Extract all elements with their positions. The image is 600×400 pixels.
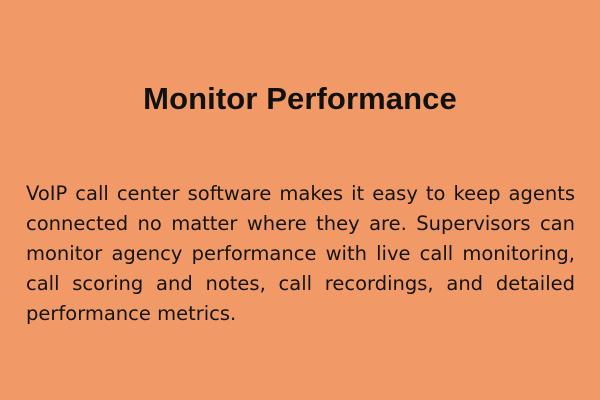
body-paragraph: VoIP call center software makes it easy … — [26, 179, 575, 329]
page-title: Monitor Performance — [0, 80, 600, 118]
info-card: Monitor Performance VoIP call center sof… — [0, 0, 600, 400]
